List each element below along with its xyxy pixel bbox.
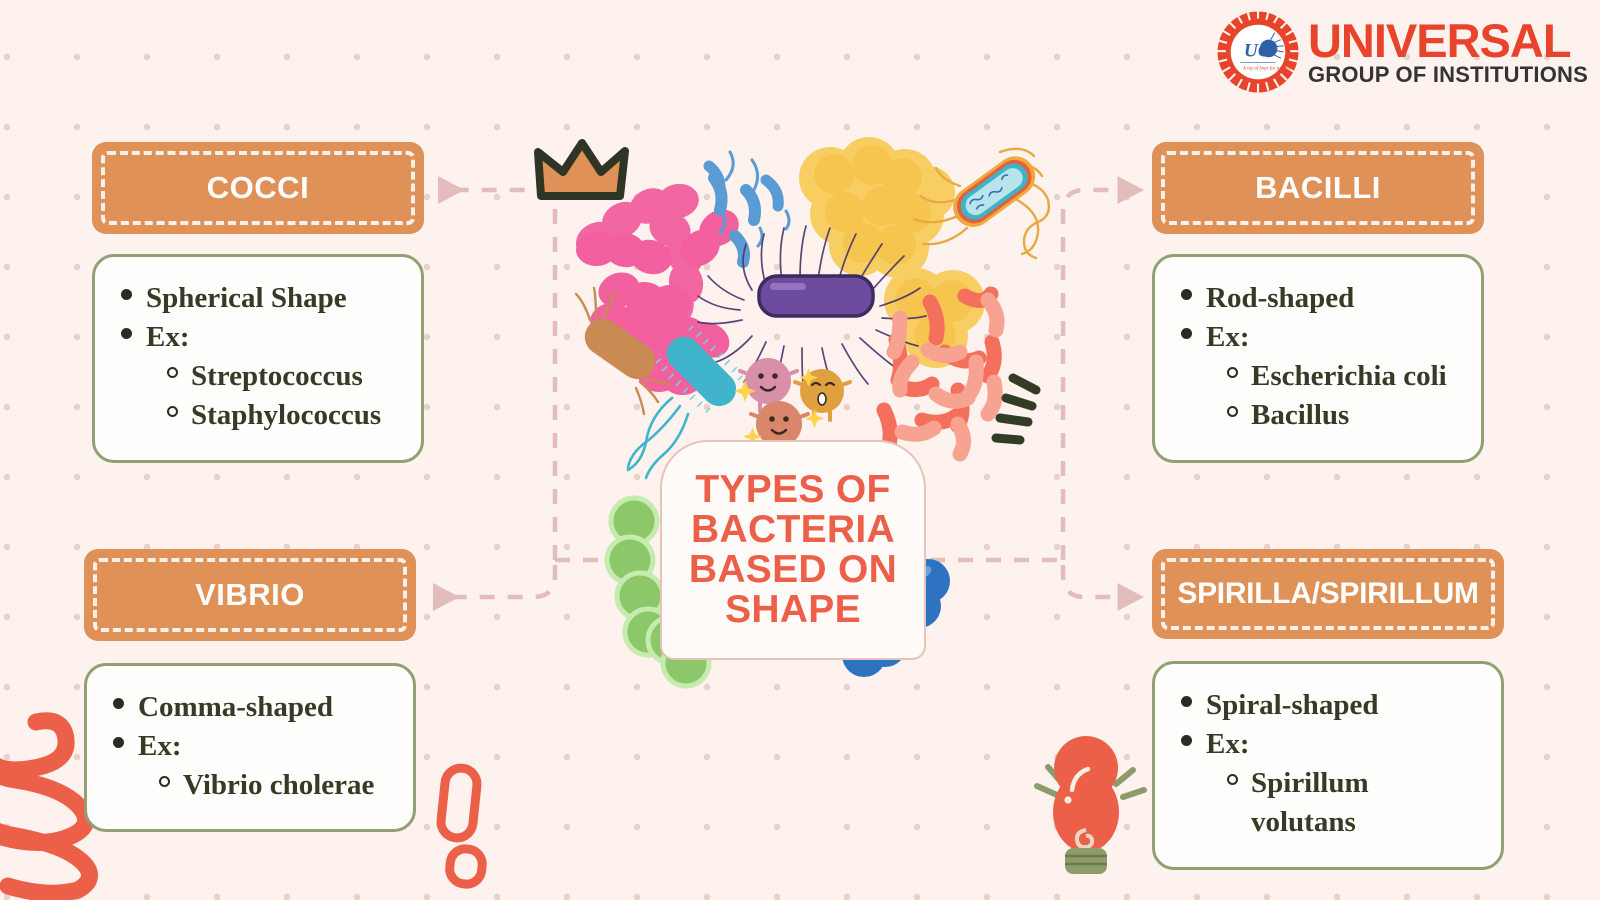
example-label: Spirillum volutans [1251, 764, 1475, 842]
node-spirilla-header[interactable]: SPIRILLA/SPIRILLUM [1152, 549, 1504, 639]
node-bacilli: BACILLI Rod-shaped Ex: Escherichia coli [1152, 142, 1484, 463]
brand-logo: UC A ray of hope for success UNIVERSAL G… [1214, 8, 1588, 96]
bullet-ring-icon [167, 367, 178, 378]
list-item: Spiral-shaped [1181, 686, 1475, 725]
node-vibrio-title: VIBRIO [185, 558, 315, 632]
node-spirilla-examples: Spirillum volutans [1227, 764, 1475, 842]
node-bacilli-header[interactable]: BACILLI [1152, 142, 1484, 234]
example-label: Escherichia coli [1251, 357, 1447, 396]
page-title: TYPES OF BACTERIA BASED ON SHAPE [662, 470, 924, 629]
list-item: Ex: [121, 318, 395, 357]
brand-primary-text: UNIVERSAL [1308, 19, 1571, 62]
node-spirilla: SPIRILLA/SPIRILLUM Spiral-shaped Ex: Spi… [1152, 549, 1504, 870]
list-item: Spirillum volutans [1227, 764, 1475, 842]
bullet-dot-icon [1181, 289, 1192, 300]
bullet-dot-icon [1181, 735, 1192, 746]
node-cocci-bullets: Spherical Shape Ex: Streptococcus Staphy… [121, 279, 395, 436]
list-item: Spherical Shape [121, 279, 395, 318]
bullet-ring-icon [167, 406, 178, 417]
example-label: Vibrio cholerae [183, 766, 374, 805]
node-bacilli-card: Rod-shaped Ex: Escherichia coli Bacillus [1152, 254, 1484, 463]
list-item: Comma-shaped [113, 688, 387, 727]
bullet-label: Comma-shaped [138, 688, 333, 727]
bullet-dot-icon [113, 737, 124, 748]
bullet-label: Rod-shaped [1206, 279, 1354, 318]
list-item: Ex: [1181, 725, 1475, 764]
node-cocci: COCCI Spherical Shape Ex: Streptococcus [92, 142, 424, 463]
bullet-label: Ex: [146, 318, 190, 357]
bullet-label: Ex: [138, 727, 182, 766]
node-vibrio-bullets: Comma-shaped Ex: Vibrio cholerae [113, 688, 387, 805]
bullet-dot-icon [121, 289, 132, 300]
universal-sun-logo-icon: UC A ray of hope for success [1214, 8, 1302, 96]
list-item: Bacillus [1227, 396, 1455, 435]
node-spirilla-card: Spiral-shaped Ex: Spirillum volutans [1152, 661, 1504, 870]
list-item: Rod-shaped [1181, 279, 1455, 318]
node-cocci-card: Spherical Shape Ex: Streptococcus Staphy… [92, 254, 424, 463]
bullet-ring-icon [1227, 367, 1238, 378]
node-spirilla-bullets: Spiral-shaped Ex: Spirillum volutans [1181, 686, 1475, 843]
example-label: Streptococcus [191, 357, 363, 396]
node-cocci-header[interactable]: COCCI [92, 142, 424, 234]
bullet-label: Spherical Shape [146, 279, 347, 318]
example-label: Bacillus [1251, 396, 1349, 435]
bullet-label: Spiral-shaped [1206, 686, 1378, 725]
node-vibrio-card: Comma-shaped Ex: Vibrio cholerae [84, 663, 416, 832]
list-item: Streptococcus [167, 357, 395, 396]
list-item: Ex: [1181, 318, 1455, 357]
bullet-dot-icon [1181, 696, 1192, 707]
node-cocci-title: COCCI [197, 151, 319, 225]
list-item: Vibrio cholerae [159, 766, 387, 805]
bullet-dot-icon [1181, 328, 1192, 339]
bullet-ring-icon [1227, 406, 1238, 417]
node-bacilli-bullets: Rod-shaped Ex: Escherichia coli Bacillus [1181, 279, 1455, 436]
node-vibrio-examples: Vibrio cholerae [159, 766, 387, 805]
center-hub-card: TYPES OF BACTERIA BASED ON SHAPE [660, 440, 926, 660]
node-spirilla-title: SPIRILLA/SPIRILLUM [1167, 558, 1488, 630]
list-item: Ex: [113, 727, 387, 766]
bullet-ring-icon [159, 776, 170, 787]
node-vibrio-header[interactable]: VIBRIO [84, 549, 416, 641]
node-bacilli-title: BACILLI [1245, 151, 1391, 225]
bullet-ring-icon [1227, 774, 1238, 785]
example-label: Staphylococcus [191, 396, 381, 435]
node-cocci-examples: Streptococcus Staphylococcus [167, 357, 395, 435]
node-bacilli-examples: Escherichia coli Bacillus [1227, 357, 1455, 435]
list-item: Staphylococcus [167, 396, 395, 435]
bullet-label: Ex: [1206, 725, 1250, 764]
bullet-label: Ex: [1206, 318, 1250, 357]
node-vibrio: VIBRIO Comma-shaped Ex: Vibrio cholerae [84, 549, 416, 832]
bullet-dot-icon [113, 698, 124, 709]
svg-text:A ray of hope for success: A ray of hope for success [1242, 67, 1291, 72]
bullet-dot-icon [121, 328, 132, 339]
list-item: Escherichia coli [1227, 357, 1455, 396]
brand-secondary-text: GROUP OF INSTITUTIONS [1308, 65, 1588, 85]
